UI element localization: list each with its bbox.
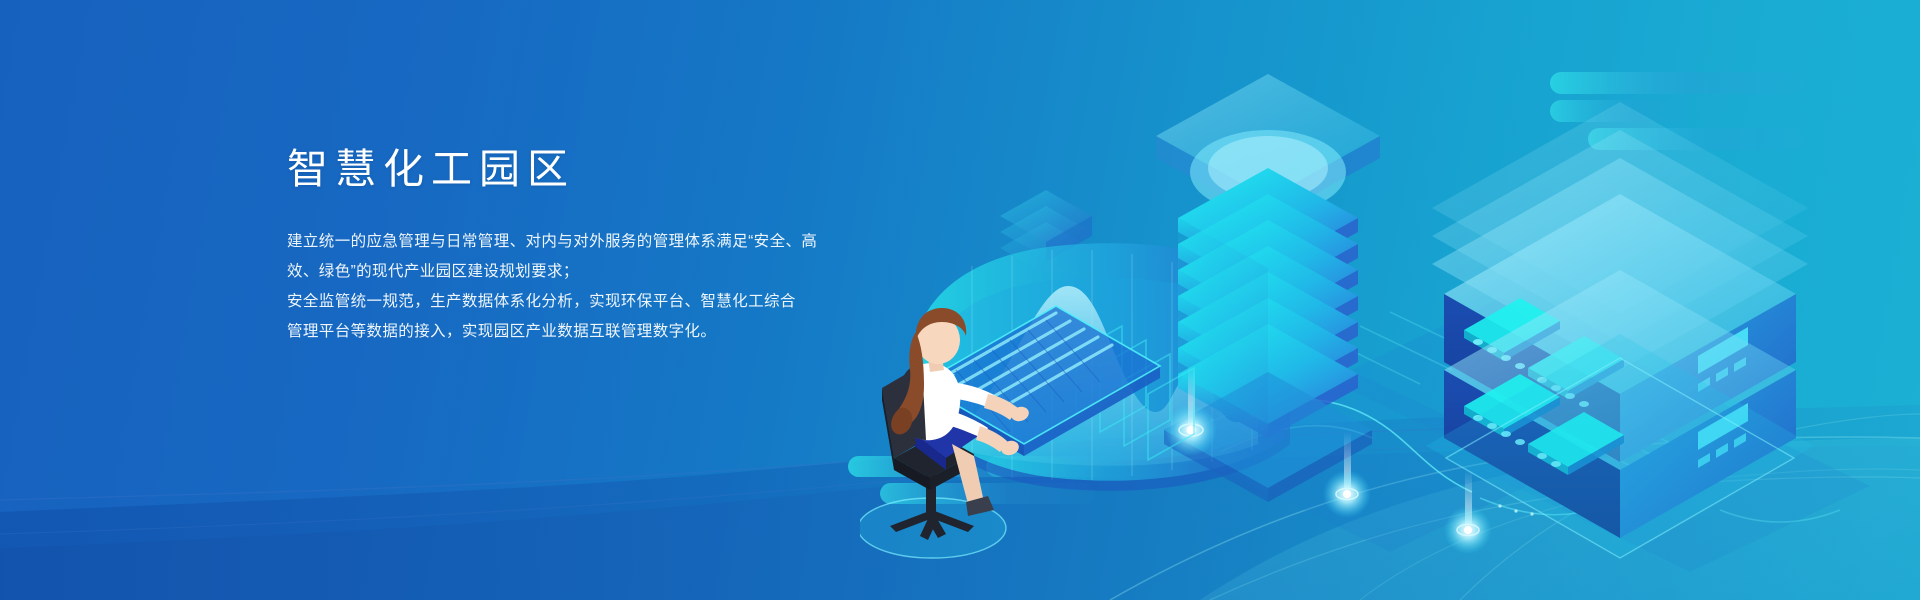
description-line-2: 效、绿色”的现代产业园区建设规划要求； bbox=[287, 257, 887, 287]
page-title: 智慧化工园区 bbox=[287, 146, 887, 193]
description-line-4: 管理平台等数据的接入，实现园区产业数据互联管理数字化。 bbox=[287, 317, 887, 347]
hero-text-block: 智慧化工园区 建立统一的应急管理与日常管理、对内与对外服务的管理体系满足“安全、… bbox=[287, 146, 887, 347]
isometric-illustration bbox=[860, 40, 1920, 600]
isometric-illustration-svg bbox=[860, 40, 1920, 600]
hero-banner: 智慧化工园区 建立统一的应急管理与日常管理、对内与对外服务的管理体系满足“安全、… bbox=[0, 0, 1920, 600]
hero-description: 建立统一的应急管理与日常管理、对内与对外服务的管理体系满足“安全、高 效、绿色”… bbox=[287, 227, 887, 347]
description-line-3: 安全监管统一规范，生产数据体系化分析，实现环保平台、智慧化工综合 bbox=[287, 287, 887, 317]
description-line-1: 建立统一的应急管理与日常管理、对内与对外服务的管理体系满足“安全、高 bbox=[287, 227, 887, 257]
